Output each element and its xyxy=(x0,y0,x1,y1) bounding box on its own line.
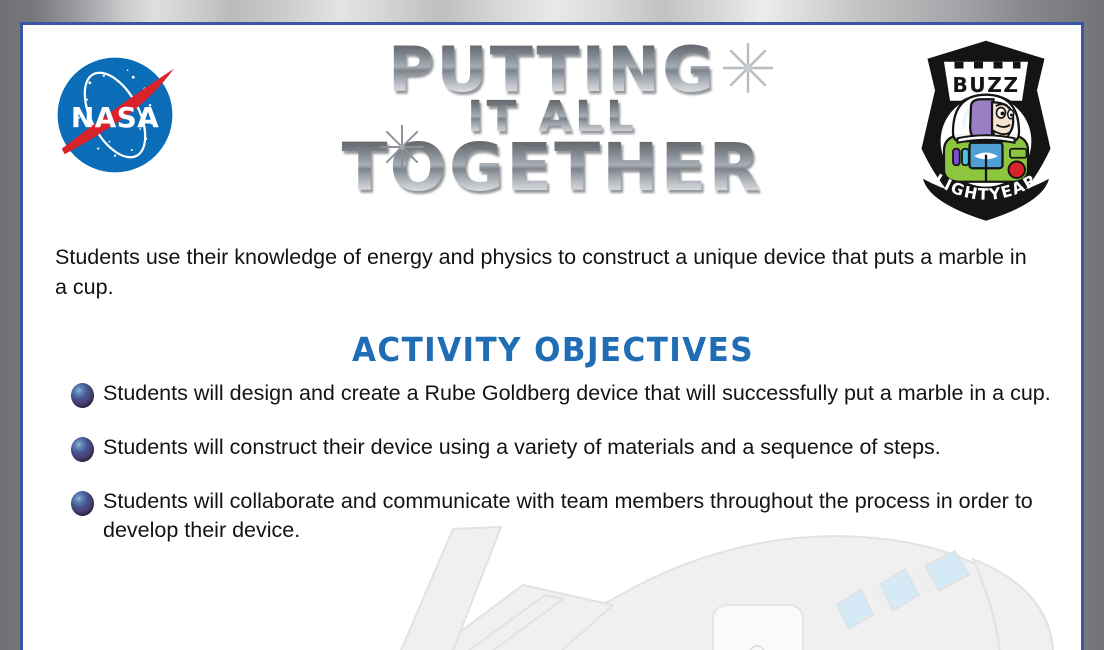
document-page: NASA PUTTING IT ALL TOGETHER xyxy=(20,22,1084,650)
page-body: Students use their knowledge of energy a… xyxy=(23,243,1081,546)
activity-objectives-heading: ACTIVITY OBJECTIVES xyxy=(85,330,1021,369)
sparkle-star-icon xyxy=(378,123,426,171)
buzz-badge-top-text: BUZZ xyxy=(952,73,1019,97)
sphere-bullet-icon xyxy=(71,383,94,408)
nasa-meatball-logo: NASA xyxy=(45,45,185,185)
list-item-text: Students will collaborate and communicat… xyxy=(103,489,1033,543)
sparkle-star-icon xyxy=(721,41,775,95)
activity-objectives-list: Students will design and create a Rube G… xyxy=(55,379,1051,546)
sphere-bullet-icon xyxy=(71,437,94,462)
list-item: Students will design and create a Rube G… xyxy=(55,379,1051,409)
list-item-text: Students will construct their device usi… xyxy=(103,435,941,459)
list-item: Students will construct their device usi… xyxy=(55,433,1051,463)
nasa-wordmark: NASA xyxy=(71,101,159,134)
list-item-text: Students will design and create a Rube G… xyxy=(103,381,1051,405)
buzz-lightyear-badge: BUZZ xyxy=(911,35,1061,225)
intro-paragraph: Students use their knowledge of energy a… xyxy=(55,243,1031,302)
page-header: NASA PUTTING IT ALL TOGETHER xyxy=(23,25,1081,243)
sphere-bullet-icon xyxy=(71,491,94,516)
list-item: Students will collaborate and communicat… xyxy=(55,487,1051,546)
document-viewer: NASA PUTTING IT ALL TOGETHER xyxy=(0,0,1104,650)
